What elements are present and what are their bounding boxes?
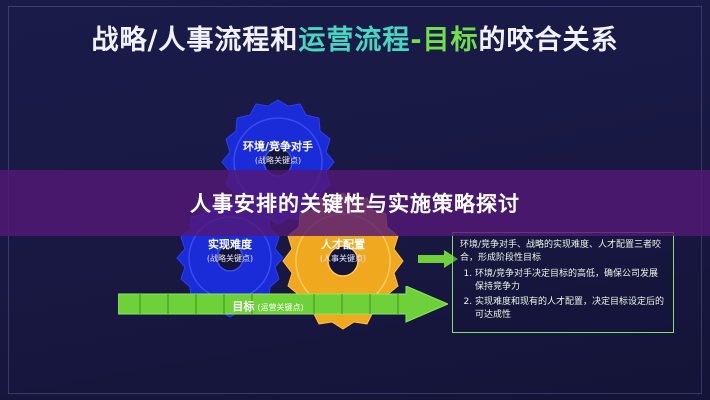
callout-heading: 环境/竞争对手、战略的实现难度、人才配置三者咬合，形成阶段性目标 <box>460 239 666 265</box>
callout-list-item: 环境/竞争对手决定目标的高低，确保公司发展保持竞争力 <box>475 268 666 294</box>
title-segment-operations: 运营流程 <box>298 25 410 56</box>
title-segment-relation: 的咬合关系 <box>479 25 619 56</box>
callout-list: 环境/竞争对手决定目标的高低，确保公司发展保持竞争力 实现难度和现有的人才配置，… <box>460 268 666 322</box>
slide-title: 战略/人事流程和运营流程-目标的咬合关系 <box>0 18 710 57</box>
goal-arrow-label: 目标(运营关键点) <box>118 298 418 314</box>
goal-arrow-label-sub: (运营关键点) <box>257 303 303 312</box>
headline-overlay-text: 人事安排的关键性与实施策略探讨 <box>0 170 710 236</box>
title-segment-goal: -目标 <box>410 25 478 56</box>
goal-arrow-label-main: 目标 <box>232 300 254 313</box>
slide-canvas: 战略/人事流程和运营流程-目标的咬合关系 环境/竞争对手 (战略关键点) 实现难… <box>0 0 710 400</box>
title-segment-strategy: 战略/人事流程和 <box>91 25 298 56</box>
callout-list-item: 实现难度和现有的人才配置，决定目标设定后的可达成性 <box>475 296 666 322</box>
callout-box: 环境/竞争对手、战略的实现难度、人才配置三者咬合，形成阶段性目标 环境/竞争对手… <box>452 232 674 333</box>
